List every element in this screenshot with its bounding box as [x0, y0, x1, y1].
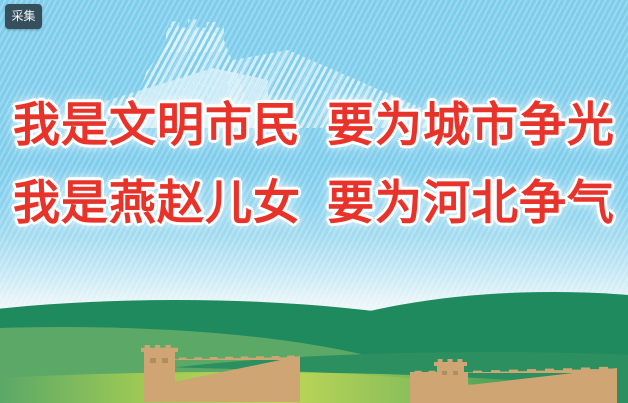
banner-line-2: 我是燕赵儿女要为河北争气	[0, 176, 628, 232]
banner-image: 我是文明市民要为城市争光 我是燕赵儿女要为河北争气 采集	[0, 0, 628, 403]
wall-tower-right	[437, 364, 464, 403]
wall-tower-window-left-1	[150, 358, 156, 363]
banner-line2-part2: 要为河北争气	[327, 176, 615, 231]
wall-tower-window-right-1	[442, 371, 447, 375]
wall-tower-window-right-2	[453, 371, 458, 375]
banner-line1-part2: 要为城市争光	[327, 98, 615, 153]
wall-tower-crenellation-right	[434, 359, 467, 366]
wall-tower-left	[144, 350, 175, 402]
watermark-tower	[166, 18, 224, 52]
banner-line1-part1: 我是文明市民	[13, 98, 301, 153]
capture-button[interactable]: 采集	[5, 4, 42, 29]
wall-tower-window-left-2	[162, 358, 168, 363]
banner-line-1: 我是文明市民要为城市争光	[0, 98, 628, 154]
banner-line2-part1: 我是燕赵儿女	[13, 176, 301, 231]
